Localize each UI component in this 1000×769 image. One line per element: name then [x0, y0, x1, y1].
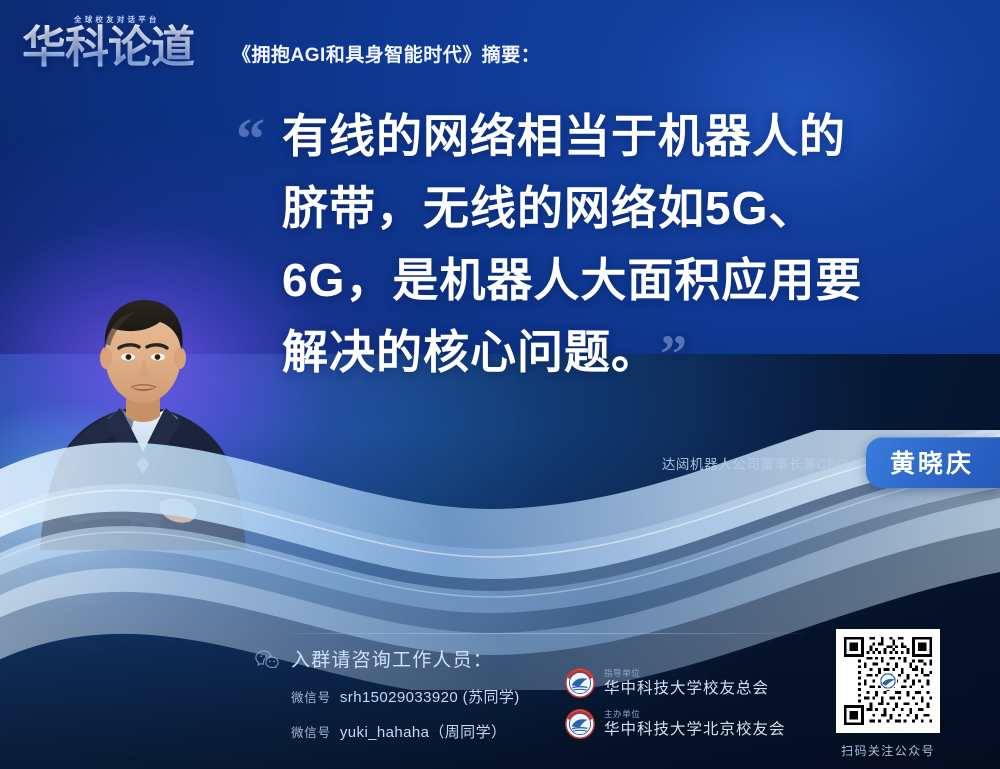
qr-code-icon[interactable]: [836, 629, 940, 733]
qr-caption: 扫码关注公众号: [836, 742, 940, 759]
header: 全球校友对话平台 华科论道 《拥抱AGI和具身智能时代》摘要：: [22, 10, 540, 76]
speaker-role: 达闼机器人公司董事长兼CEO: [662, 453, 848, 473]
organization-row: 指导单位 华中科技大学校友总会: [565, 668, 786, 698]
organization-text: 指导单位 华中科技大学校友总会: [604, 668, 769, 698]
quote-line-last: 解决的核心问题。”: [282, 316, 956, 390]
attribution: 达闼机器人公司董事长兼CEO 黄晓庆: [662, 437, 1000, 488]
organization-kind: 指导单位: [604, 668, 769, 679]
quote-line: 解决的核心问题。: [282, 326, 658, 378]
header-subtitle: 《拥抱AGI和具身智能时代》摘要：: [232, 40, 540, 76]
footer-contact: 入群请咨询工作人员： 微信号 srh15029033920 (苏同学) 微信号 …: [255, 645, 520, 742]
contact-value[interactable]: srh15029033920 (苏同学): [340, 686, 520, 707]
quote-lines: 有线的网络相当于机器人的 脐带，无线的网络如5G、 6G，是机器人大面积应用要 …: [282, 100, 956, 390]
poster-canvas: 全球校友对话平台 华科论道 《拥抱AGI和具身智能时代》摘要： “ 有线的网络相…: [0, 0, 1000, 769]
hust-seal-icon: [565, 709, 595, 739]
contact-row: 微信号 yuki_hahaha（周同学）: [291, 721, 520, 742]
wechat-icon: [255, 650, 279, 668]
contact-label: 微信号: [291, 722, 331, 741]
footer-title: 入群请咨询工作人员：: [291, 645, 493, 672]
quote-line: 有线的网络相当于机器人的: [282, 100, 956, 172]
quote-line: 脐带，无线的网络如5G、: [282, 172, 956, 244]
organization-name: 华中科技大学校友总会: [604, 679, 769, 698]
quote-open-mark: “: [236, 110, 265, 168]
organization-row: 主办单位 华中科技大学北京校友会: [565, 709, 786, 739]
quote-close-mark: ”: [660, 318, 688, 390]
organizations: 指导单位 华中科技大学校友总会 主办单位 华中科技大学北京校友会: [565, 668, 786, 750]
brand-logo[interactable]: 全球校友对话平台 华科论道: [22, 10, 218, 76]
contact-row: 微信号 srh15029033920 (苏同学): [291, 686, 520, 707]
organization-text: 主办单位 华中科技大学北京校友会: [604, 709, 786, 739]
hust-seal-icon: [565, 668, 595, 698]
speaker-portrait: [36, 288, 250, 550]
contact-label: 微信号: [291, 687, 331, 706]
speaker-name-badge: 黄晓庆: [866, 437, 1000, 488]
quote-line: 6G，是机器人大面积应用要: [282, 244, 956, 316]
qr-block: 扫码关注公众号: [836, 629, 940, 759]
organization-name: 华中科技大学北京校友会: [604, 720, 786, 739]
footer-heading-row: 入群请咨询工作人员：: [255, 645, 520, 672]
organization-kind: 主办单位: [604, 709, 786, 720]
contact-value[interactable]: yuki_hahaha（周同学）: [340, 721, 506, 742]
footer-divider: [285, 633, 805, 634]
brand-name: 华科论道: [22, 23, 194, 73]
quote-block: “ 有线的网络相当于机器人的 脐带，无线的网络如5G、 6G，是机器人大面积应用…: [236, 100, 956, 390]
